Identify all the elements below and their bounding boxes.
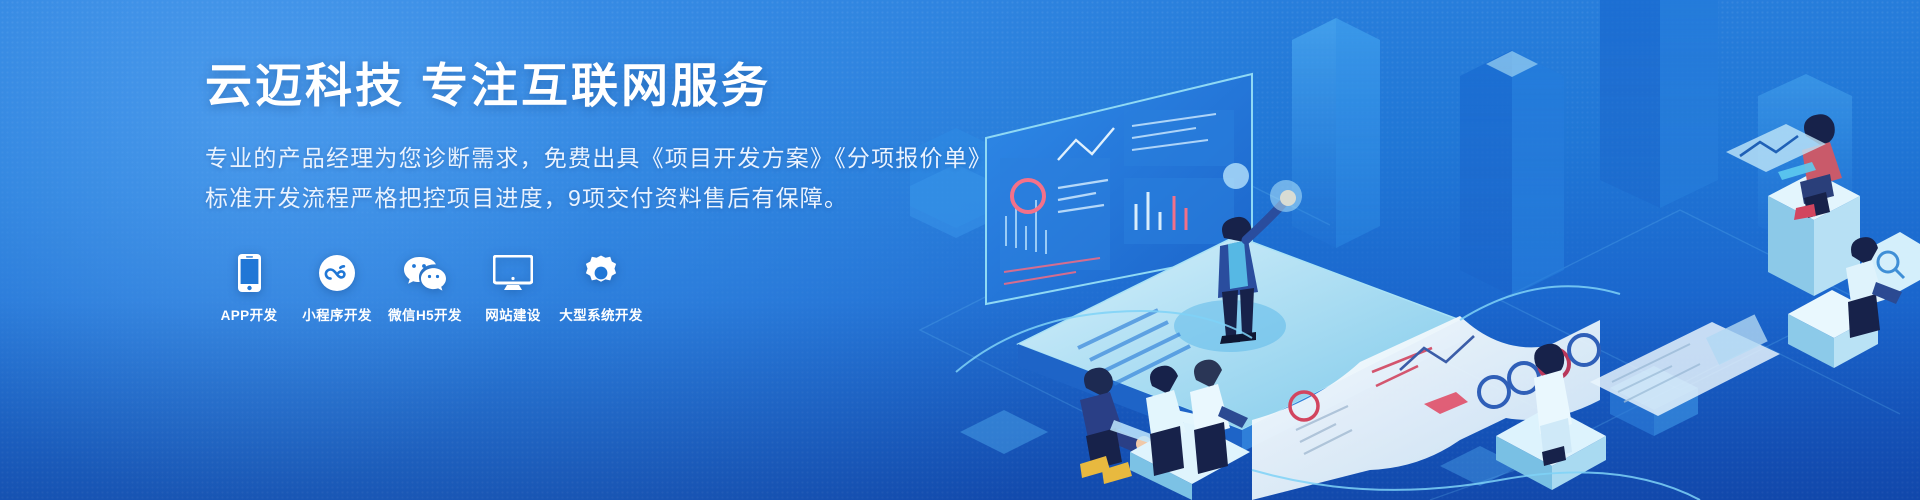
feature-label-wechat-h5: 微信H5开发 (388, 304, 462, 324)
feature-label-app: APP开发 (221, 304, 278, 324)
subtitle-line-2: 标准开发流程严格把控项目进度，9项交付资料售后有保障。 (205, 179, 1105, 219)
feature-item-website[interactable]: 网站建设 (469, 253, 557, 324)
wechat-icon (403, 253, 447, 293)
feature-item-large-system[interactable]: 大型系统开发 (557, 253, 645, 324)
mini-program-icon (318, 253, 356, 293)
feature-item-app[interactable]: APP开发 (205, 253, 293, 324)
service-feature-list: APP开发 小程序开发 (205, 253, 1105, 324)
feature-label-website: 网站建设 (485, 304, 541, 324)
monitor-icon (493, 253, 533, 293)
gear-icon (582, 253, 620, 293)
feature-label-large-system: 大型系统开发 (559, 304, 642, 324)
hero-copy: 云迈科技 专注互联网服务 专业的产品经理为您诊断需求，免费出具《项目开发方案》《… (205, 58, 1105, 324)
subtitle-block: 专业的产品经理为您诊断需求，免费出具《项目开发方案》《分项报价单》 标准开发流程… (205, 139, 1105, 218)
feature-label-mini-program: 小程序开发 (302, 304, 372, 324)
mobile-phone-icon (237, 253, 262, 293)
page-title: 云迈科技 专注互联网服务 (205, 58, 1105, 113)
feature-item-mini-program[interactable]: 小程序开发 (293, 253, 381, 324)
hero-banner: 云迈科技 专注互联网服务 专业的产品经理为您诊断需求，免费出具《项目开发方案》《… (0, 0, 1920, 500)
subtitle-line-1: 专业的产品经理为您诊断需求，免费出具《项目开发方案》《分项报价单》 (205, 139, 1105, 179)
feature-item-wechat-h5[interactable]: 微信H5开发 (381, 253, 469, 324)
